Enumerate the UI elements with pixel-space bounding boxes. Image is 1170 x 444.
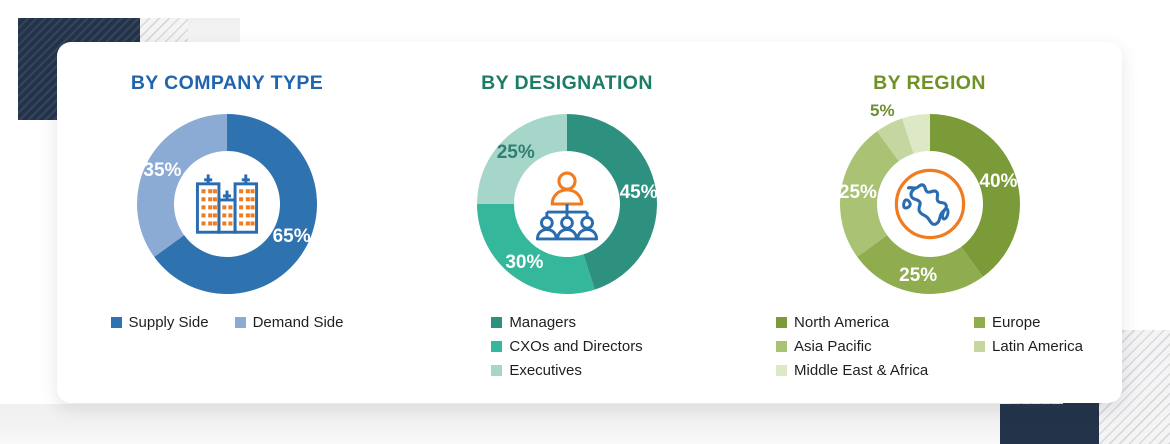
legend-swatch <box>491 317 502 328</box>
legend-swatch <box>111 317 122 328</box>
org-chart-icon <box>524 161 610 247</box>
decoration-bottom-right-navy-horizontal <box>1000 404 1099 444</box>
legend-item[interactable]: Asia Pacific <box>776 339 948 354</box>
legend-swatch <box>491 365 502 376</box>
legend-swatch <box>776 365 787 376</box>
globe-icon <box>887 161 973 247</box>
legend-swatch <box>235 317 246 328</box>
legend-item[interactable]: Europe <box>974 315 1083 330</box>
legend-swatch <box>974 341 985 352</box>
donut-chart-region: 40%25%25%5%5% <box>835 109 1025 299</box>
panel-title-company-type: BY COMPANY TYPE <box>131 72 323 95</box>
donut-chart-company-type: 65%35% <box>132 109 322 299</box>
legend-item[interactable]: CXOs and Directors <box>491 339 642 354</box>
legend-item[interactable]: Executives <box>491 363 642 378</box>
legend-label: Latin America <box>992 339 1083 354</box>
legend-item[interactable]: Middle East & Africa <box>776 363 1083 378</box>
buildings-icon <box>184 161 270 247</box>
legend-label: CXOs and Directors <box>509 339 642 354</box>
legend-company-type: Supply SideDemand Side <box>111 315 344 330</box>
legend-label: Demand Side <box>253 315 344 330</box>
legend-label: Executives <box>509 363 582 378</box>
panel-by-region: BY REGION 40%25%25%5%5% North AmericaEur… <box>737 42 1122 403</box>
decoration-bottom-gray-band <box>0 404 1012 444</box>
legend-region: North AmericaEuropeAsia PacificLatin Ame… <box>776 315 1083 378</box>
infographic-canvas: BY COMPANY TYPE <box>0 0 1170 444</box>
legend-item[interactable]: Supply Side <box>111 315 209 330</box>
legend-label: North America <box>794 315 889 330</box>
legend-label: Managers <box>509 315 576 330</box>
legend-swatch <box>974 317 985 328</box>
chart-panels: BY COMPANY TYPE <box>57 42 1122 403</box>
legend-item[interactable]: North America <box>776 315 948 330</box>
legend-swatch <box>776 317 787 328</box>
panel-title-designation: BY DESIGNATION <box>481 72 653 95</box>
legend-swatch <box>776 341 787 352</box>
donut-chart-designation: 45%30%25% <box>472 109 662 299</box>
legend-item[interactable]: Demand Side <box>235 315 344 330</box>
panel-by-designation: BY DESIGNATION <box>397 42 737 403</box>
panel-title-region: BY REGION <box>873 72 986 95</box>
legend-item[interactable]: Managers <box>491 315 642 330</box>
legend-label: Supply Side <box>129 315 209 330</box>
legend-label: Asia Pacific <box>794 339 872 354</box>
legend-designation: ManagersCXOs and DirectorsExecutives <box>491 315 642 378</box>
legend-item[interactable]: Latin America <box>974 339 1083 354</box>
legend-label: Middle East & Africa <box>794 363 928 378</box>
panel-by-company-type: BY COMPANY TYPE <box>57 42 397 403</box>
legend-swatch <box>491 341 502 352</box>
legend-label: Europe <box>992 315 1040 330</box>
